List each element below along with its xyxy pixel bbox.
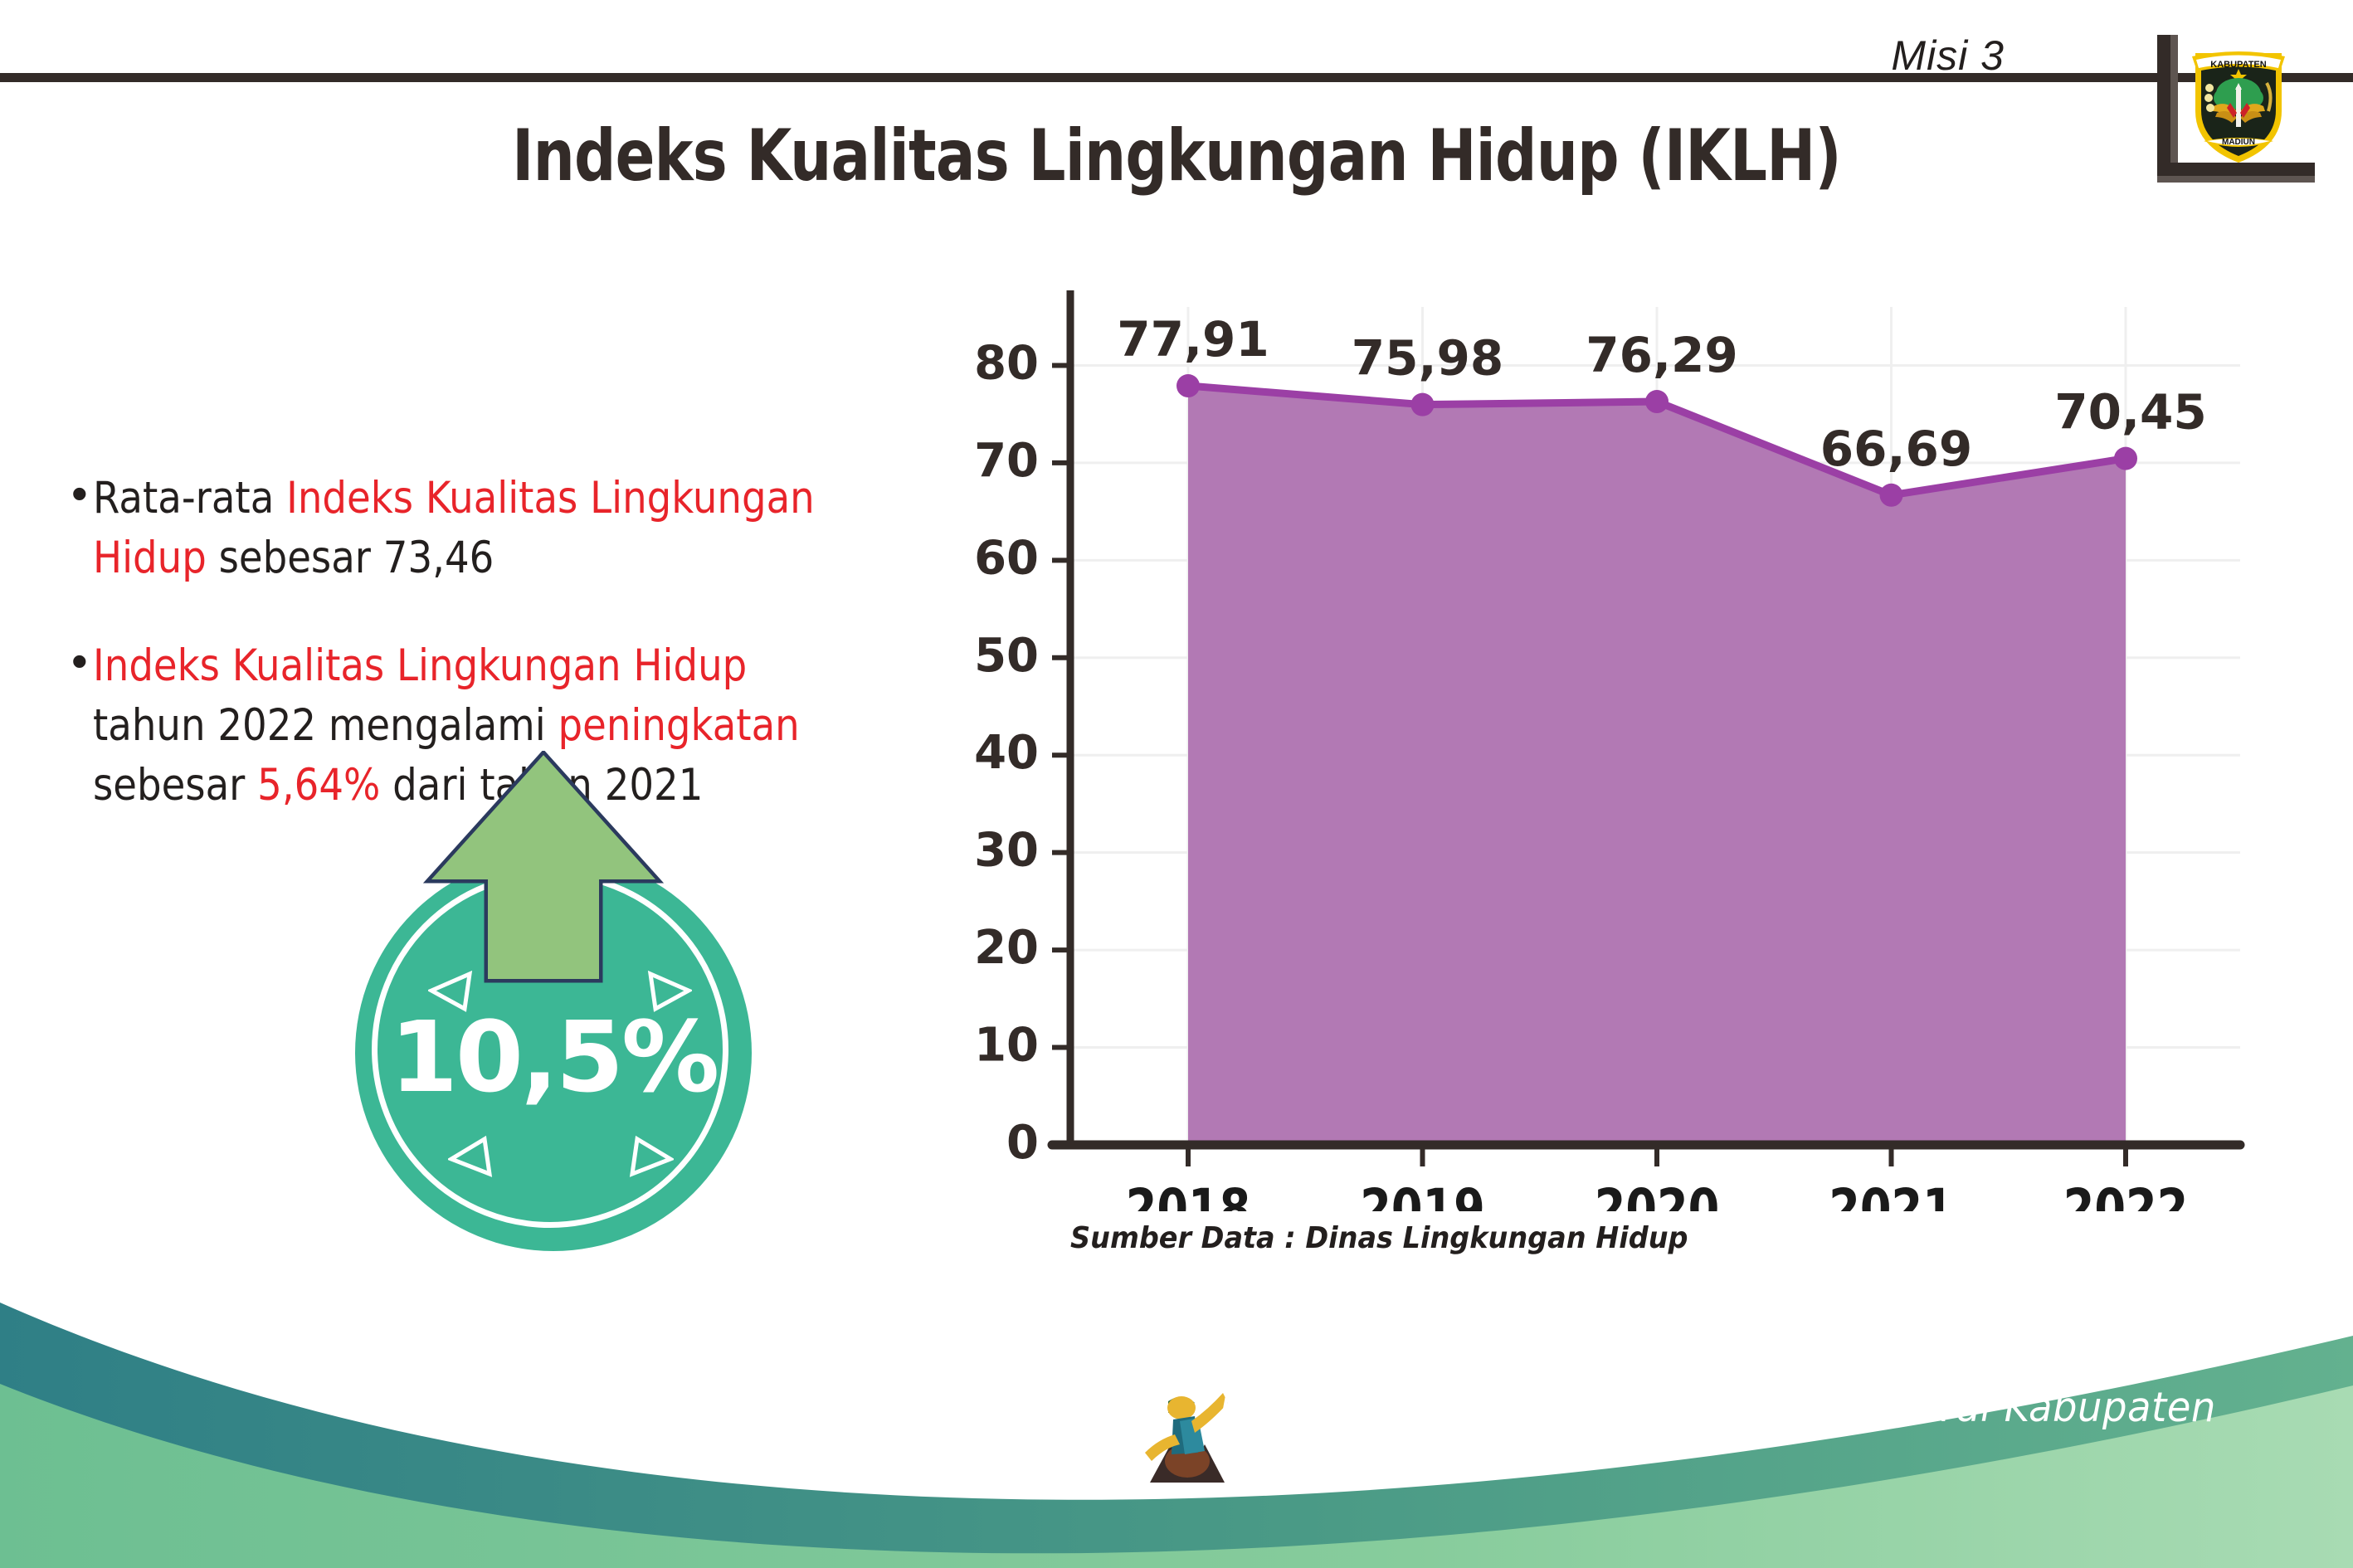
highlight-item-1: • Rata-rata Indeks Kualitas Lingkungan H…: [71, 469, 976, 588]
highlight-2-part3: peningkatan: [558, 700, 799, 751]
svg-text:77,91: 77,91: [1117, 311, 1269, 368]
highlight-2-part1: Indeks Kualitas Lingkungan Hidup: [93, 640, 747, 691]
svg-text:50: 50: [974, 629, 1039, 683]
source-note: Sumber Data : Dinas Lingkungan Hidup: [1070, 1221, 1688, 1255]
chart-x-axis-labels: 20182019202020212022: [1126, 1145, 2189, 1211]
svg-text:70: 70: [974, 434, 1039, 488]
mission-label: Misi 3: [1891, 32, 2005, 80]
bullet-dot-icon: •: [71, 636, 88, 686]
increase-badge: 10,5%: [332, 751, 747, 1182]
svg-text:60: 60: [974, 531, 1039, 585]
svg-text:30: 30: [974, 824, 1039, 878]
svg-text:2022: 2022: [2063, 1178, 2189, 1211]
highlight-1-suffix: sebesar 73,46: [206, 533, 494, 583]
highlight-2-part4: sebesar: [93, 760, 257, 811]
kabupaten-madiun-logo-icon: KABUPATEN MADIUN: [2189, 41, 2288, 164]
logo-bracket: KABUPATEN MADIUN: [2157, 35, 2353, 176]
bracket-horizontal-bar: [2157, 163, 2315, 176]
svg-text:80: 80: [974, 336, 1039, 390]
up-arrow-icon: [332, 751, 747, 1182]
bullet-dot-icon: •: [71, 469, 88, 519]
highlight-2-part2: tahun 2022 mengalami: [93, 700, 558, 751]
svg-text:70,45: 70,45: [2054, 384, 2206, 441]
badge-value: 10,5%: [355, 1000, 752, 1114]
highlight-1-prefix: Rata-rata: [93, 473, 286, 523]
svg-text:75,98: 75,98: [1352, 330, 1503, 387]
badge-tick-triangle-bottom-left-icon: [448, 1134, 493, 1179]
svg-text:76,29: 76,29: [1586, 327, 1737, 383]
chart-y-axis-labels: 01020304050607080: [974, 336, 1070, 1170]
svg-text:20: 20: [974, 921, 1039, 975]
bracket-vertical-bar: [2157, 35, 2170, 176]
svg-text:2018: 2018: [1126, 1178, 1251, 1211]
svg-text:0: 0: [1006, 1116, 1039, 1170]
badge-tick-triangle-bottom-right-icon: [629, 1134, 674, 1179]
svg-text:2020: 2020: [1595, 1178, 1720, 1211]
svg-text:2019: 2019: [1360, 1178, 1485, 1211]
footer-caption: Media Infografis Data Statistik Sektoral…: [1220, 1384, 2297, 1478]
logo-bottom-label: MADIUN: [2222, 138, 2255, 147]
svg-text:10: 10: [974, 1019, 1039, 1073]
chart-area-fill: [1188, 386, 2126, 1145]
svg-text:66,69: 66,69: [1820, 421, 1972, 477]
svg-text:2021: 2021: [1829, 1178, 1954, 1211]
highlight-text-1: Rata-rata Indeks Kualitas Lingkungan Hid…: [93, 469, 870, 588]
logo-top-label: KABUPATEN: [2210, 60, 2266, 70]
iklh-area-chart: 01020304050607080 20182019202020212022 7…: [954, 274, 2298, 1211]
statistics-figure-icon: [1143, 1385, 1230, 1497]
svg-text:40: 40: [974, 726, 1039, 780]
page-title: Indeks Kualitas Lingkungan Hidup (IKLH): [212, 114, 2141, 197]
